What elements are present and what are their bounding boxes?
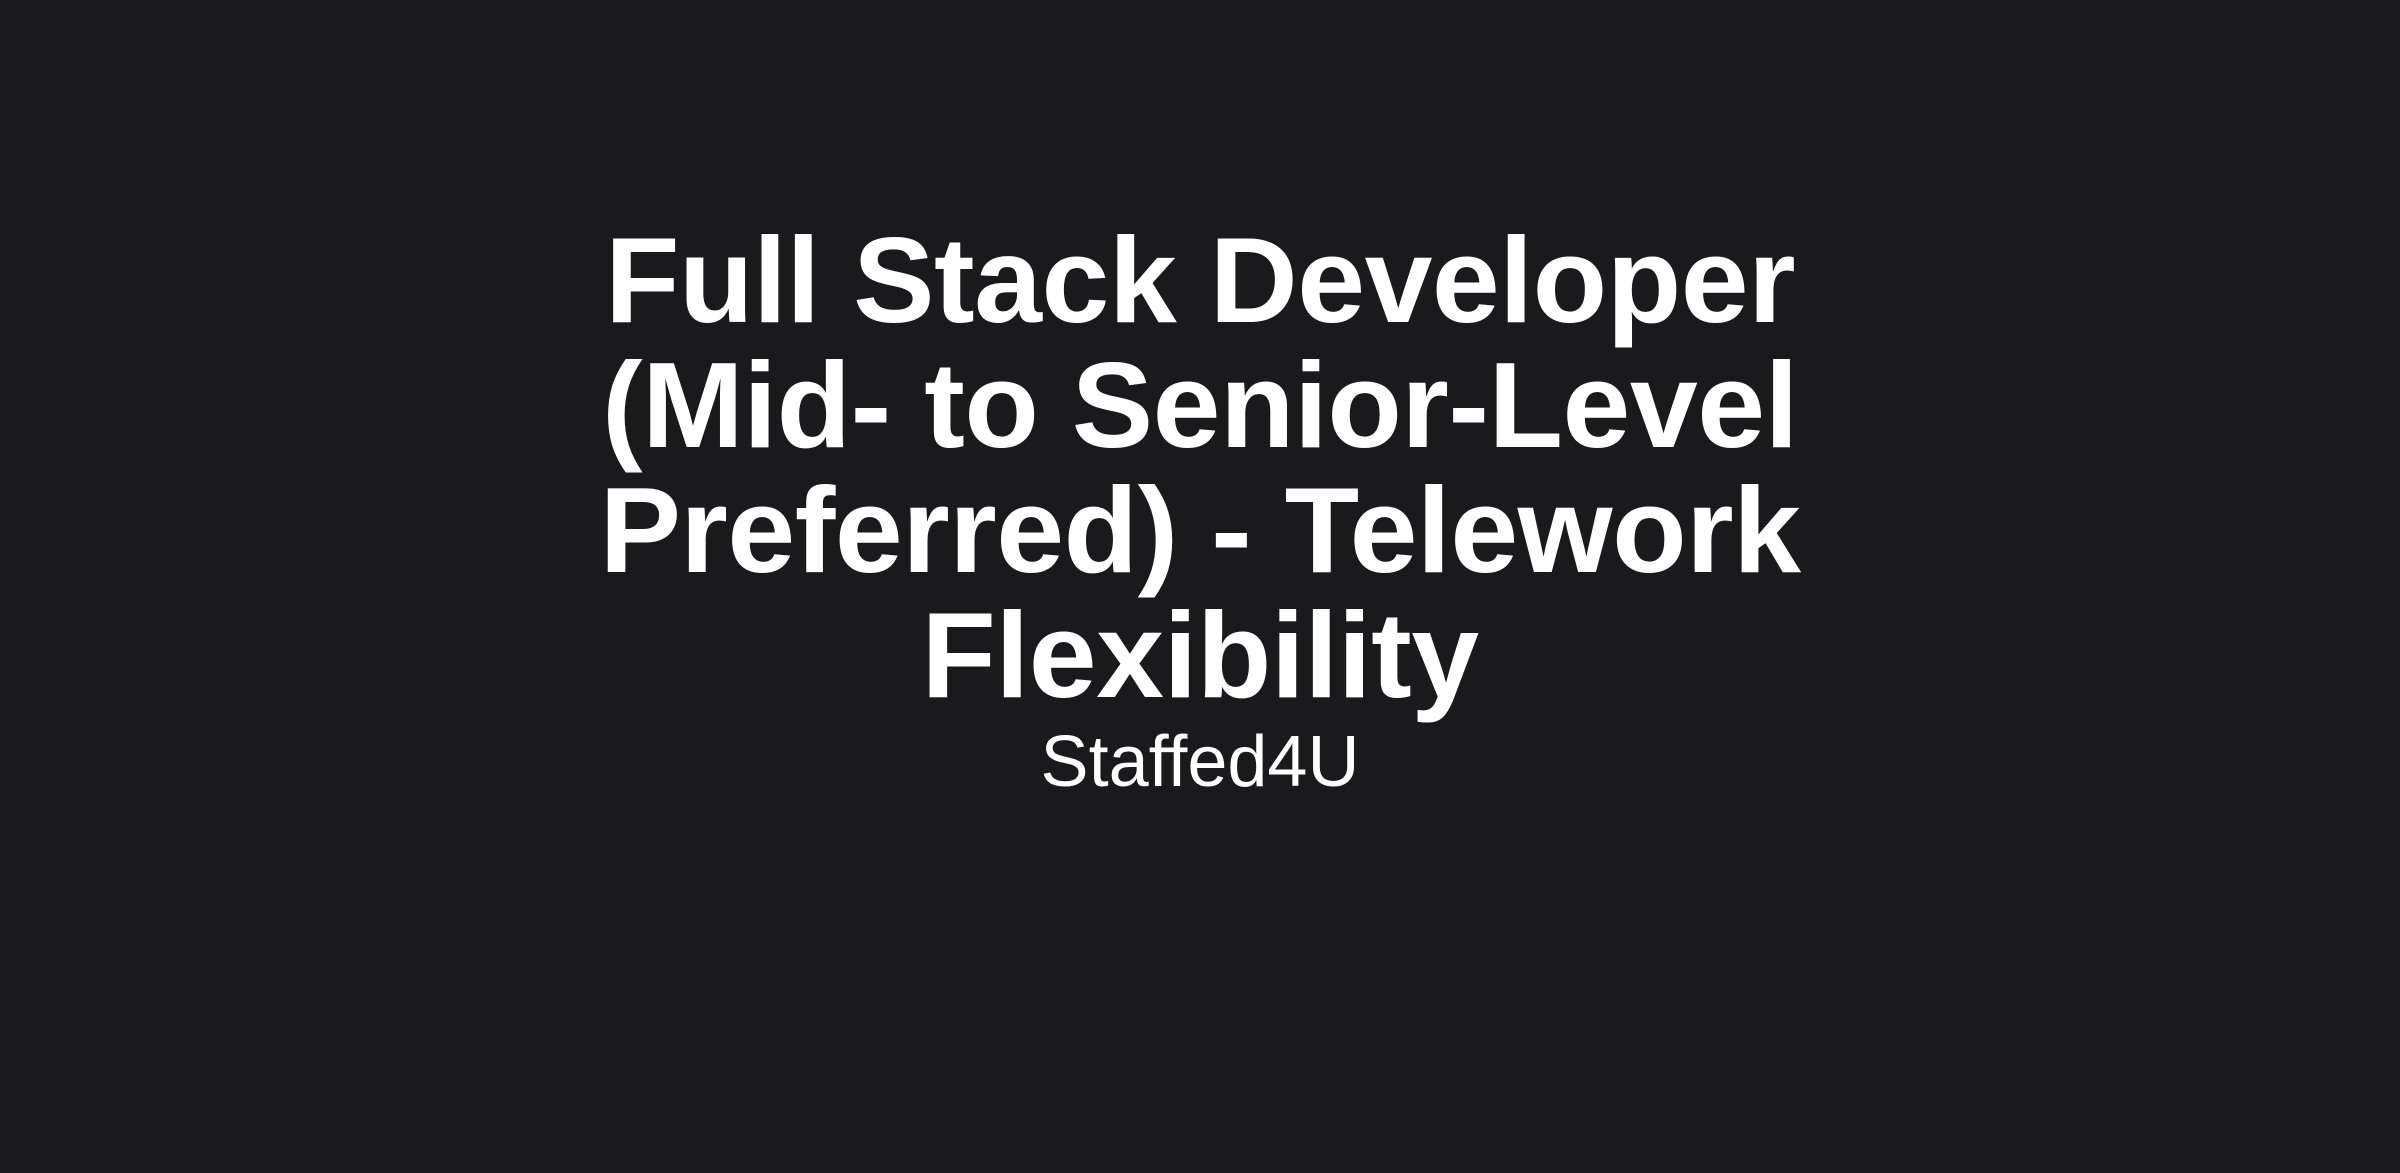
page-title: Full Stack Developer (Mid- to Senior-Lev… [465, 218, 1935, 718]
title-card-stage: Full Stack Developer (Mid- to Senior-Lev… [0, 0, 2400, 1173]
hero-text-block: Full Stack Developer (Mid- to Senior-Lev… [465, 218, 1935, 806]
company-name-subtitle: Staffed4U [465, 718, 1935, 806]
